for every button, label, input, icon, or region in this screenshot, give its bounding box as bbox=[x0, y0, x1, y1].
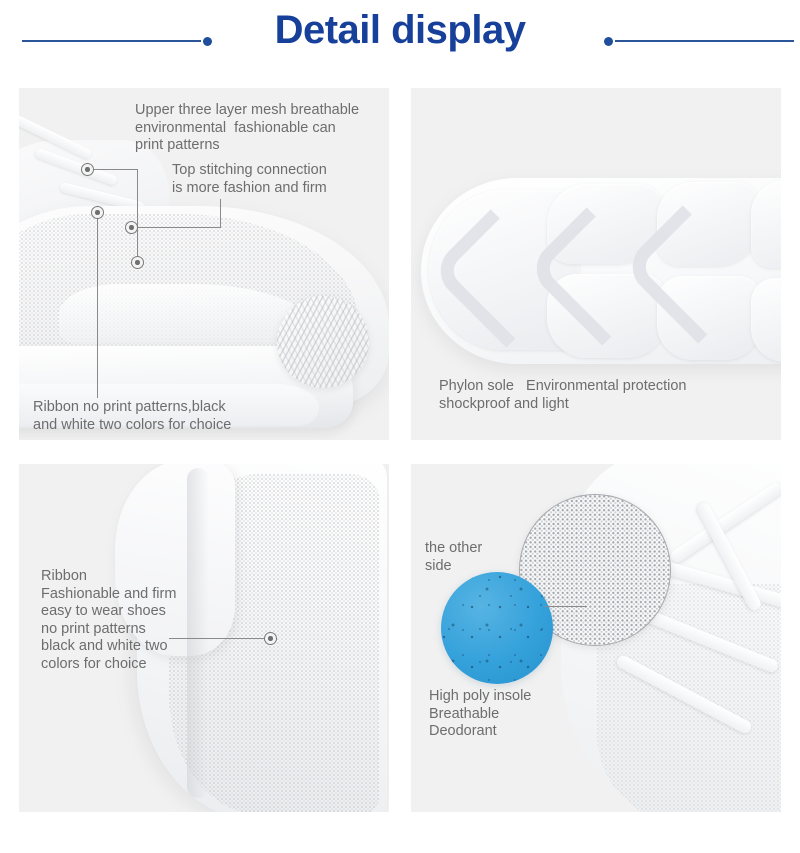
callout-marker-mesh-point bbox=[131, 256, 144, 269]
note-high-poly-insole: High poly insole Breathable Deodorant bbox=[429, 688, 531, 741]
note-upper-mesh: Upper three layer mesh breathable enviro… bbox=[135, 102, 359, 155]
leader-line-a-h bbox=[93, 169, 138, 170]
header-decoration-right bbox=[604, 36, 794, 46]
leader-line-insole bbox=[545, 606, 587, 607]
note-phylon-sole: Phylon sole Environmental protection sho… bbox=[439, 378, 686, 413]
leader-line-c-v bbox=[220, 199, 221, 228]
detail-display-page: Detail display Upper three layer mesh br… bbox=[0, 0, 800, 853]
insole-blue-circle bbox=[441, 572, 553, 684]
panel-ribbon-collar: Ribbon Fashionable and firm easy to wear… bbox=[19, 464, 389, 812]
insole-speckle-texture bbox=[441, 572, 553, 684]
leader-line-c-h bbox=[137, 227, 221, 228]
callout-marker-ribbon-collar bbox=[264, 632, 277, 645]
leader-line-a-v bbox=[137, 169, 138, 256]
note-ribbon-detail: Ribbon Fashionable and firm easy to wear… bbox=[41, 568, 176, 673]
note-top-stitching: Top stitching connection is more fashion… bbox=[172, 162, 327, 197]
decoration-dot-right bbox=[604, 37, 613, 46]
stitching-texture bbox=[277, 296, 369, 388]
collar-edge-highlight bbox=[187, 468, 209, 798]
leader-line-ribbon bbox=[169, 638, 265, 639]
callout-marker-stitching bbox=[125, 221, 138, 234]
note-ribbon-colors: Ribbon no print patterns,black and white… bbox=[33, 399, 231, 434]
callout-marker-upper-mesh bbox=[81, 163, 94, 176]
page-header: Detail display bbox=[0, 0, 800, 90]
sole-tread-6 bbox=[751, 278, 781, 362]
phylon-sole-shape bbox=[421, 178, 781, 364]
stitching-detail-circle bbox=[277, 296, 369, 388]
callout-marker-ribbon bbox=[91, 206, 104, 219]
panel-phylon-sole: Phylon sole Environmental protection sho… bbox=[411, 88, 781, 440]
detail-panel-grid: Upper three layer mesh breathable enviro… bbox=[0, 88, 800, 836]
panel-upper-mesh: Upper three layer mesh breathable enviro… bbox=[19, 88, 389, 440]
note-other-side: the other side bbox=[425, 540, 482, 575]
leader-line-b-v bbox=[97, 212, 98, 398]
page-title: Detail display bbox=[0, 8, 800, 53]
decoration-line-right bbox=[615, 40, 794, 42]
panel-insole: the other side High poly insole Breathab… bbox=[411, 464, 781, 812]
